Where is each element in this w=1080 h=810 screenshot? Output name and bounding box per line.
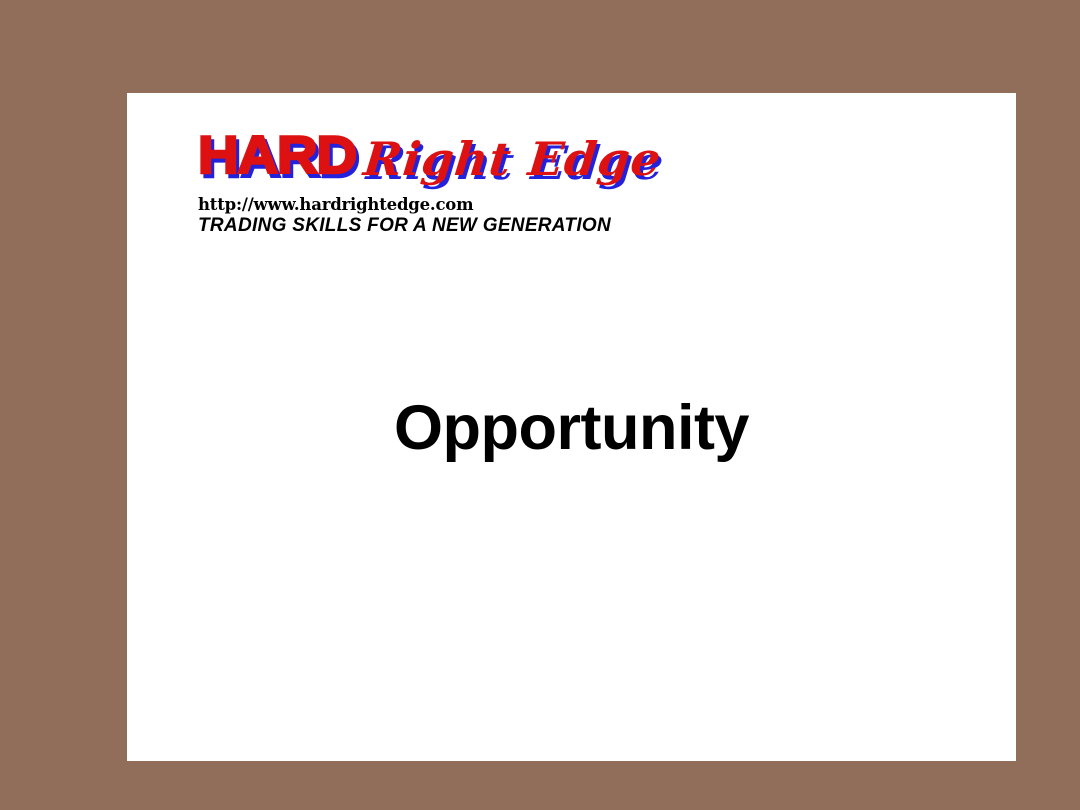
logo-hard-text: HARD [198,128,356,184]
logo-wordmark-face-layer: HARDRight Edge [198,128,658,185]
slide-title: Opportunity [127,391,1016,465]
logo-wordmark: HARDRight Edge HARDRight Edge [198,128,618,190]
slide-canvas: HARDRight Edge HARDRight Edge http://www… [0,0,1080,810]
logo-tagline-text: TRADING SKILLS FOR A NEW GENERATION [198,215,618,237]
logo-script-text: Right Edge [361,131,664,187]
slide-sheet: HARDRight Edge HARDRight Edge http://www… [127,93,1016,761]
logo-url-text: http://www.hardrightedge.com [198,195,618,214]
brand-logo: HARDRight Edge HARDRight Edge http://www… [198,128,618,237]
